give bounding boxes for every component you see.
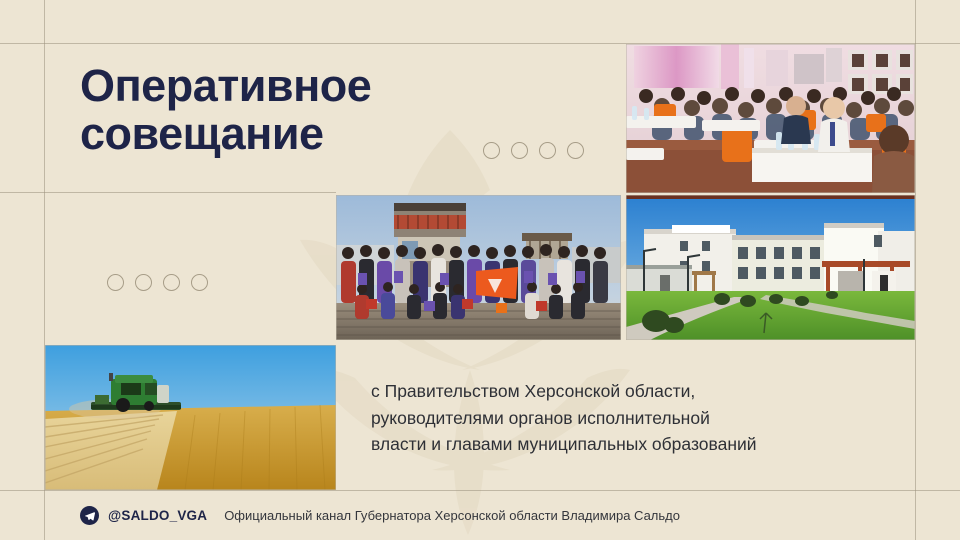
telegram-handle[interactable]: @SALDO_VGA (108, 508, 207, 523)
ring-icon (163, 274, 180, 291)
photo-meeting-hall (626, 44, 915, 193)
decorative-rings-left (107, 274, 208, 291)
ring-icon (191, 274, 208, 291)
footer-bar: @SALDO_VGA Официальный канал Губернатора… (0, 491, 960, 540)
ring-icon (135, 274, 152, 291)
ring-icon (539, 142, 556, 159)
photo-wheat-harvest (45, 345, 336, 490)
ring-icon (567, 142, 584, 159)
photo-group-photo (336, 195, 621, 340)
photo-new-buildings (626, 195, 915, 340)
footer-description: Официальный канал Губернатора Херсонской… (224, 508, 680, 523)
slide-caption: с Правительством Херсонской области, рук… (371, 378, 901, 458)
slide-title-line-1: Оперативное (80, 62, 560, 110)
footer-content: @SALDO_VGA Официальный канал Губернатора… (80, 506, 680, 525)
caption-line-1: с Правительством Херсонской области, (371, 378, 901, 405)
caption-line-3: власти и главами муниципальных образован… (371, 431, 901, 458)
grid-line-middle (0, 192, 336, 193)
ring-icon (511, 142, 528, 159)
telegram-icon (80, 506, 99, 525)
presentation-slide: Оперативное совещание (0, 0, 960, 540)
ring-icon (107, 274, 124, 291)
caption-line-2: руководителями органов исполнительной (371, 405, 901, 432)
ring-icon (483, 142, 500, 159)
grid-line-right (915, 0, 916, 540)
decorative-rings-title (483, 142, 584, 159)
